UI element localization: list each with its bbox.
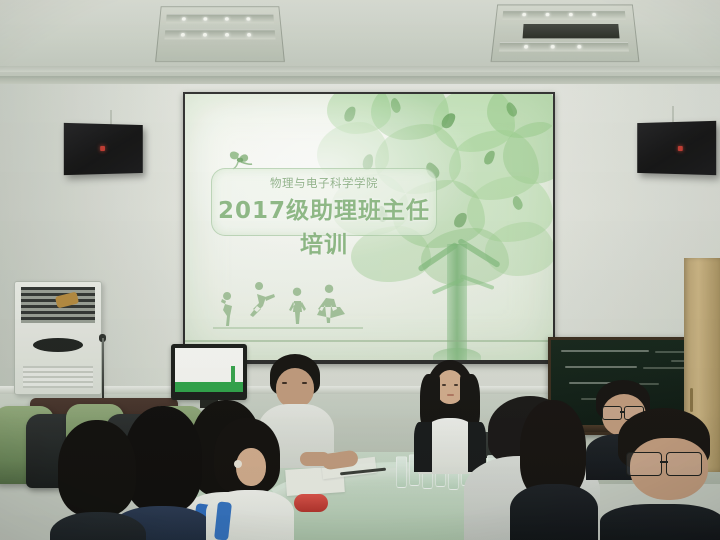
wall-speaker-left (64, 123, 143, 175)
monitor-screen (175, 348, 243, 392)
person-student-earbud (206, 418, 292, 540)
eyeglasses-left-lens (626, 452, 662, 476)
slide-title-box: 物理与电子科学学院 2017级助理班主任培训 (211, 168, 437, 236)
monitor-accent-mark (231, 366, 235, 382)
children-silhouettes-icon (213, 282, 363, 330)
speaker-indicator-led-right (678, 146, 683, 151)
slide-title: 2017级助理班主任培训 (212, 191, 436, 259)
eyeglasses-right-lens (666, 452, 702, 476)
projection-screen: 物理与电子科学学院 2017级助理班主任培训 (185, 94, 553, 360)
person-student-longhair-right (512, 400, 596, 540)
monitor-green-band (175, 382, 243, 392)
speaker-wire-right (672, 106, 674, 122)
ceiling-light-fixture-right (491, 5, 640, 63)
slide-subtitle: 物理与电子科学学院 (212, 175, 436, 191)
speaker-indicator-led-left (100, 146, 105, 151)
slide-ground-line (185, 340, 553, 342)
ceiling-light-fixture-left (155, 6, 285, 62)
wall-speaker-right (637, 121, 716, 175)
ac-badge (33, 338, 83, 352)
person-student-glasses-front (596, 408, 720, 540)
microphone-stem (102, 338, 104, 400)
classroom-photo: 物理与电子科学学院 2017级助理班主任培训 (0, 0, 720, 540)
red-pouch (294, 494, 328, 512)
earbud-icon (234, 460, 242, 468)
person-student-far-left (56, 420, 144, 540)
ceiling-seam (0, 66, 720, 72)
ac-vent (23, 366, 93, 388)
